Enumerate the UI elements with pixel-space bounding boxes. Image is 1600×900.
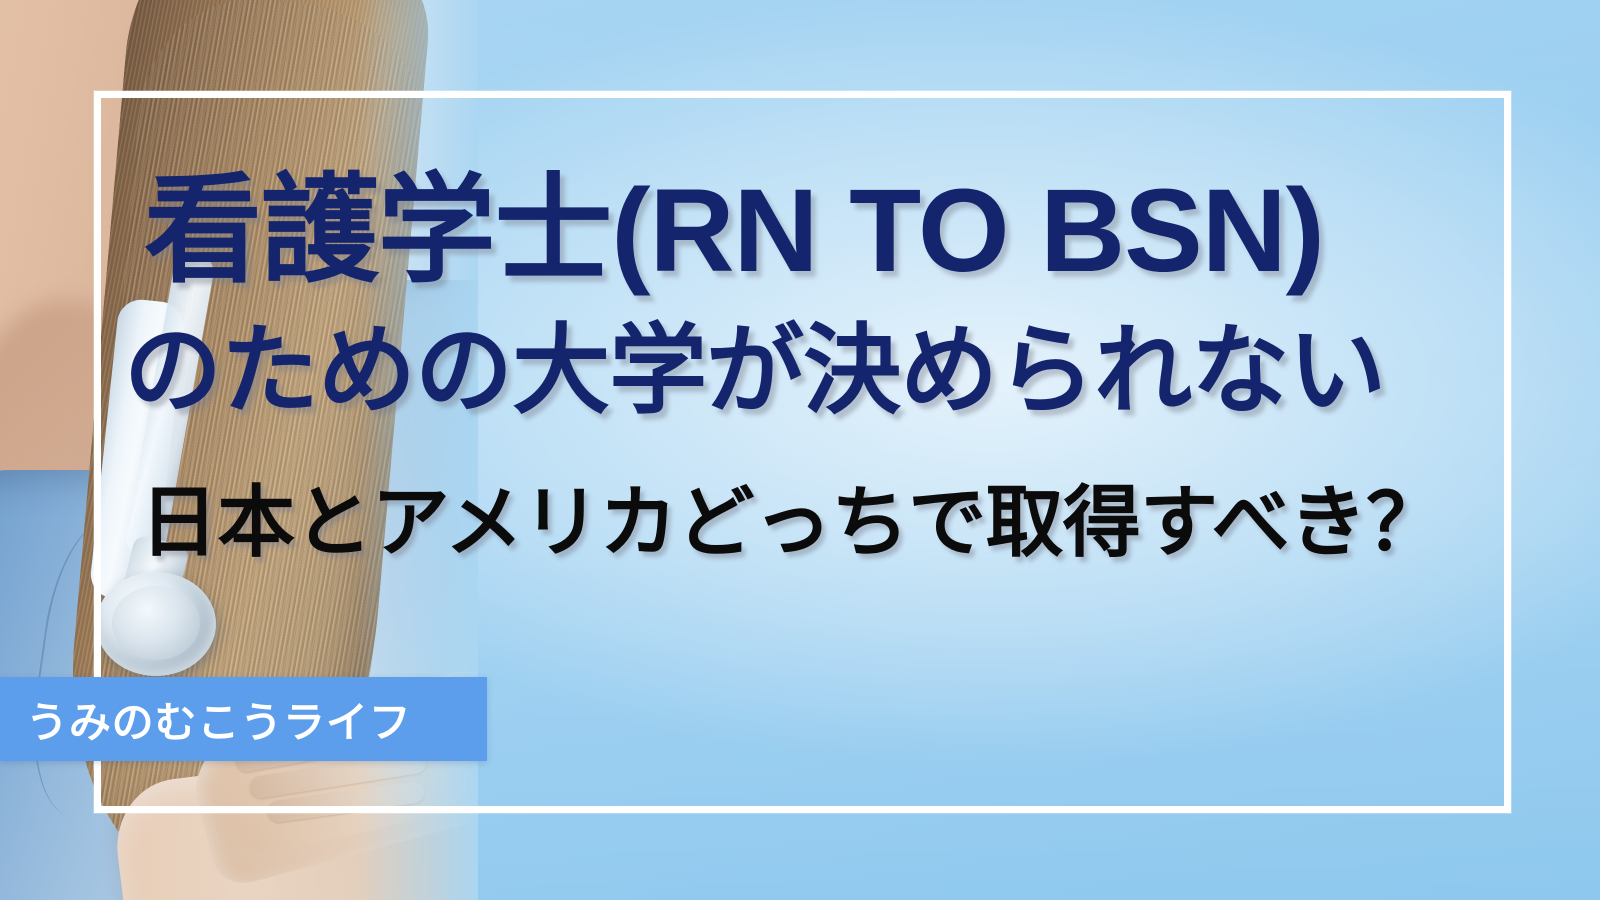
title-line-1: 看護学士(RN TO BSN) <box>144 170 1520 294</box>
brand-ribbon: うみのむこうライフ <box>0 677 487 761</box>
title-line-2: のための大学が決められない <box>124 314 1520 428</box>
title-line-3: 日本とアメリカどっちで取得すべき？ <box>140 476 1520 570</box>
brand-name-label: うみのむこうライフ <box>26 689 412 750</box>
page-title: 看護学士(RN TO BSN) のための大学が決められない 日本とアメリカどっち… <box>120 170 1520 569</box>
thumbnail-canvas: 看護学士(RN TO BSN) のための大学が決められない 日本とアメリカどっち… <box>0 0 1600 900</box>
